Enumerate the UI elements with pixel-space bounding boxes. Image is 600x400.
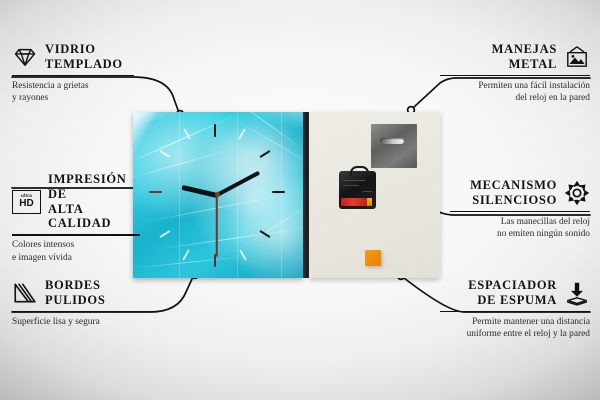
hour-hand bbox=[181, 185, 217, 198]
feature-divider bbox=[12, 234, 140, 236]
product-image bbox=[133, 112, 440, 278]
clock-dial bbox=[133, 112, 303, 278]
polished-edges-icon bbox=[12, 280, 38, 306]
feature-title-line1: BORDES bbox=[45, 278, 105, 293]
feature-description: Superficie lisa y segura bbox=[12, 316, 150, 328]
diamond-icon bbox=[12, 44, 38, 70]
feature-espaciador-espuma: ESPACIADOR DE ESPUMA Permite mantener un… bbox=[440, 278, 590, 340]
minute-hand bbox=[216, 171, 260, 197]
clock-hub bbox=[215, 192, 220, 197]
feature-description: Las manecillas del reloj no emiten ningú… bbox=[450, 216, 590, 241]
wall-hanger-icon bbox=[564, 44, 590, 70]
second-hand bbox=[216, 195, 218, 257]
foam-spacer bbox=[365, 250, 381, 266]
metal-hanger-plate bbox=[371, 124, 417, 168]
feature-title-line2: SILENCIOSO bbox=[470, 193, 557, 208]
feature-title-line2: TEMPLADO bbox=[45, 57, 123, 72]
feature-bordes-pulidos: BORDES PULIDOS Superficie lisa y segura bbox=[12, 278, 150, 328]
clock-mechanism-box bbox=[339, 171, 376, 209]
feature-manejas-metal: MANEJAS METAL Permiten una fácil instala… bbox=[440, 42, 590, 104]
feature-title-line1: ESPACIADOR bbox=[468, 278, 557, 293]
foam-spacer-icon bbox=[564, 280, 590, 306]
feature-impresion-alta-calidad: ultra HD IMPRESIÓN DE ALTA CALIDAD Color… bbox=[12, 172, 140, 264]
infographic-canvas: VIDRIO TEMPLADO Resistencia a grietas y … bbox=[0, 0, 600, 400]
gear-icon bbox=[564, 180, 590, 206]
feature-description: Permite mantener una distancia uniforme … bbox=[440, 316, 590, 341]
feature-title-line1: IMPRESIÓN DE bbox=[48, 172, 140, 202]
feature-description: Resistencia a grietas y rayones bbox=[12, 80, 134, 105]
ultra-hd-icon: ultra HD bbox=[12, 190, 41, 214]
feature-mecanismo-silencioso: MECANISMO SILENCIOSO L bbox=[450, 178, 590, 240]
feature-title-line2: PULIDOS bbox=[45, 293, 105, 308]
feature-divider bbox=[12, 75, 134, 77]
feature-description: Permiten una fácil instalación del reloj… bbox=[440, 80, 590, 105]
feature-divider bbox=[440, 75, 590, 77]
feature-divider bbox=[450, 211, 590, 213]
feature-title-line1: VIDRIO bbox=[45, 42, 123, 57]
feature-title-line1: MANEJAS bbox=[492, 42, 557, 57]
feature-title-line1: MECANISMO bbox=[470, 178, 557, 193]
feature-divider bbox=[12, 311, 150, 313]
feature-title-line2: DE ESPUMA bbox=[468, 293, 557, 308]
feature-title-line2: METAL bbox=[492, 57, 557, 72]
clock-back-panel bbox=[309, 112, 440, 278]
feature-divider bbox=[440, 311, 590, 313]
clock-face-panel bbox=[133, 112, 303, 278]
feature-title-line2: ALTA CALIDAD bbox=[48, 202, 140, 232]
feature-vidrio-templado: VIDRIO TEMPLADO Resistencia a grietas y … bbox=[12, 42, 134, 104]
feature-description: Colores intensos e imagen vívida bbox=[12, 239, 140, 264]
battery bbox=[341, 198, 371, 206]
